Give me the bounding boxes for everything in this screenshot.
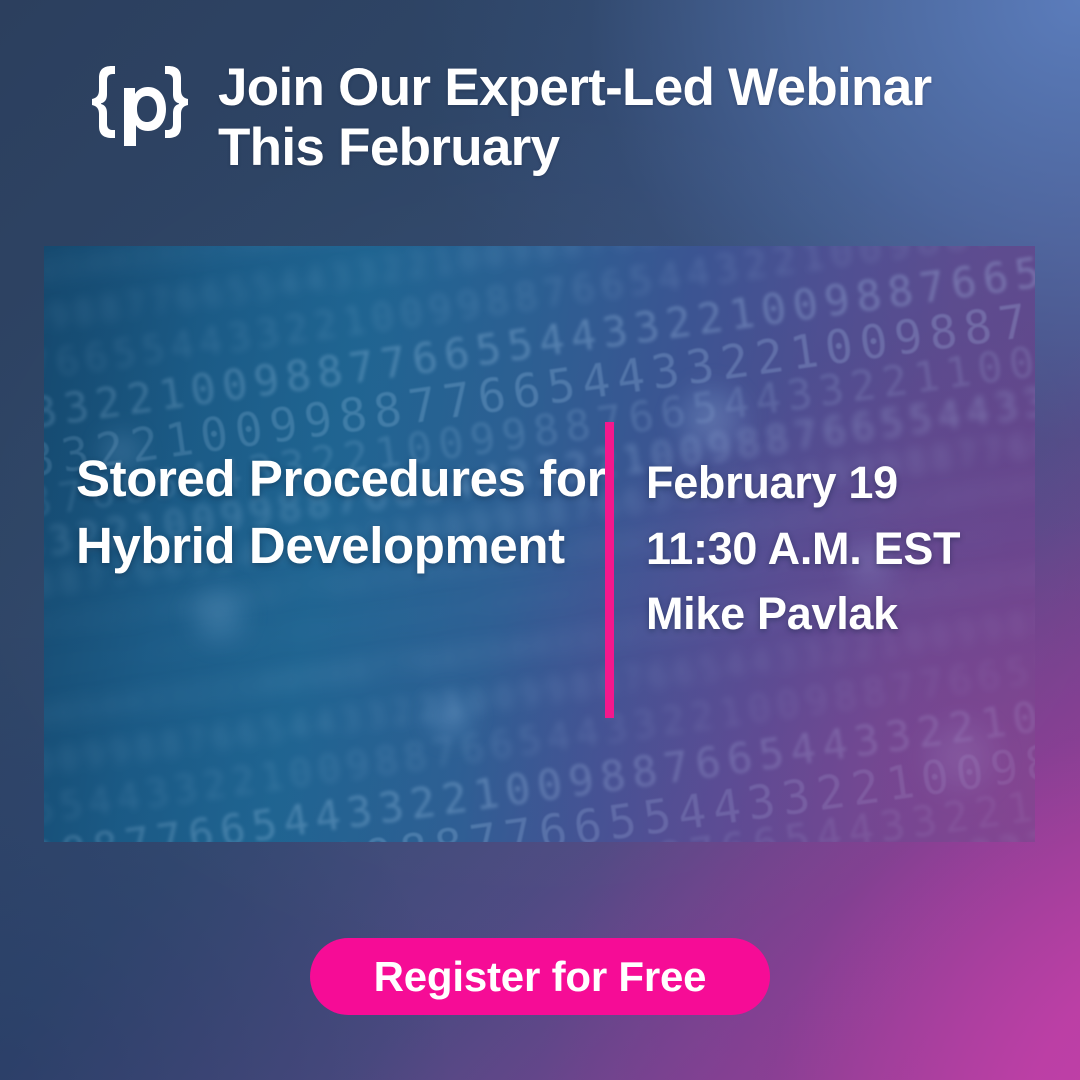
pink-divider	[605, 422, 614, 718]
curly-brace-p-logo-icon	[88, 62, 192, 158]
session-speaker: Mike Pavlak	[646, 581, 1016, 647]
session-time: 11:30 A.M. EST	[646, 516, 1016, 582]
register-for-free-button[interactable]: Register for Free	[310, 938, 770, 1015]
poster-header: Join Our Expert-Led Webinar This Februar…	[88, 58, 1020, 178]
webinar-promo-poster: Join Our Expert-Led Webinar This Februar…	[0, 0, 1080, 1080]
session-title: Stored Procedures for Hybrid Development	[76, 445, 616, 580]
panel-content: Stored Procedures for Hybrid Development…	[44, 246, 1035, 842]
session-details: February 19 11:30 A.M. EST Mike Pavlak	[646, 450, 1016, 647]
page-title: Join Our Expert-Led Webinar This Februar…	[218, 58, 1020, 178]
session-date: February 19	[646, 450, 1016, 516]
webinar-feature-panel: 9887665443322100998876654433221009988766…	[44, 246, 1035, 842]
